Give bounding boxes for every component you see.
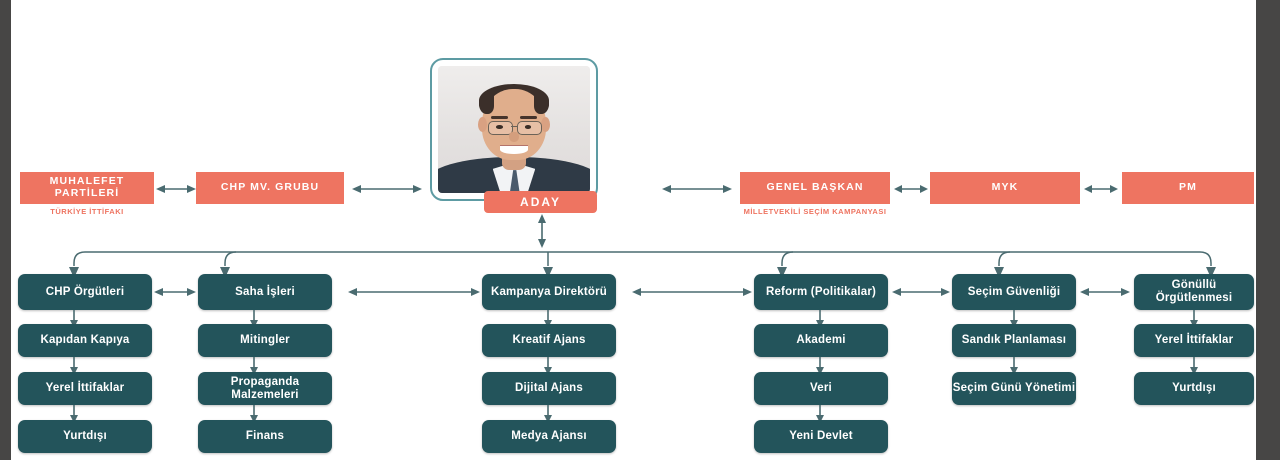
node-label: Saha İşleri	[235, 286, 295, 299]
arrow-genelbaskan-to-myk	[894, 180, 928, 198]
node-label: Medya Ajansı	[511, 430, 586, 443]
node-yurtdisi-col1[interactable]: Yurtdışı	[18, 420, 152, 453]
node-label: PM	[1179, 182, 1197, 194]
node-label: Yerel İttifaklar	[1155, 334, 1234, 347]
node-label: Yeni Devlet	[789, 430, 853, 443]
column-head-gonullu-orgutlenmesi[interactable]: Gönüllü Örgütlenmesi	[1134, 274, 1254, 310]
node-kapidan-kapiya[interactable]: Kapıdan Kapıya	[18, 324, 152, 357]
node-label: Veri	[810, 382, 832, 395]
node-label: CHP Örgütleri	[46, 286, 124, 299]
arrow-sahaisleri-to-kampanyadirektoru	[348, 283, 480, 301]
node-label: GENEL BAŞKAN	[766, 182, 863, 194]
node-pm[interactable]: PM	[1122, 172, 1254, 204]
arrow-kampanyadirektoru-to-reform	[632, 283, 752, 301]
node-label: MUHALEFET PARTİLERİ	[20, 176, 154, 200]
node-secim-gunu-yonetimi[interactable]: Seçim Günü Yönetimi	[952, 372, 1076, 405]
node-label: Kreatif Ajans	[512, 334, 585, 347]
node-label: Seçim Günü Yönetimi	[953, 382, 1075, 395]
arrow-muhalefet-to-chpmv	[156, 180, 196, 198]
node-myk[interactable]: MYK	[930, 172, 1080, 204]
node-label: Yurtdışı	[63, 430, 107, 443]
org-chart-canvas: MUHALEFET PARTİLERİ TÜRKİYE İTTİFAKI CHP…	[0, 0, 1280, 460]
node-medya-ajansi[interactable]: Medya Ajansı	[482, 420, 616, 453]
node-yeni-devlet[interactable]: Yeni Devlet	[754, 420, 888, 453]
node-yerel-ittifaklar-col1[interactable]: Yerel İttifaklar	[18, 372, 152, 405]
arrow-reform-to-secimguvenligi	[892, 283, 950, 301]
column-head-reform-politikalar[interactable]: Reform (Politikalar)	[754, 274, 888, 310]
node-label: Yerel İttifaklar	[46, 382, 125, 395]
left-edge-band	[0, 0, 11, 460]
node-mitingler[interactable]: Mitingler	[198, 324, 332, 357]
node-chp-mv-grubu[interactable]: CHP MV. GRUBU	[196, 172, 344, 204]
node-label: Gönüllü Örgütlenmesi	[1134, 279, 1254, 305]
column-head-chp-orgutleri[interactable]: CHP Örgütleri	[18, 274, 152, 310]
node-yerel-ittifaklar-col6[interactable]: Yerel İttifaklar	[1134, 324, 1254, 357]
node-label: CHP MV. GRUBU	[221, 182, 319, 194]
node-label: Seçim Güvenliği	[968, 286, 1060, 299]
candidate-portrait	[438, 66, 590, 193]
column-head-kampanya-direktoru[interactable]: Kampanya Direktörü	[482, 274, 616, 310]
node-kreatif-ajans[interactable]: Kreatif Ajans	[482, 324, 616, 357]
sublabel-milletvekili-secim-kampanyasi: MİLLETVEKİLİ SEÇİM KAMPANYASI	[740, 207, 890, 216]
distribution-bus	[0, 236, 1280, 278]
node-yurtdisi-col6[interactable]: Yurtdışı	[1134, 372, 1254, 405]
node-akademi[interactable]: Akademi	[754, 324, 888, 357]
node-muhalefet-partileri[interactable]: MUHALEFET PARTİLERİ	[20, 172, 154, 204]
right-edge-band	[1256, 0, 1280, 460]
arrow-myk-to-pm	[1084, 180, 1118, 198]
node-label: Sandık Planlaması	[962, 334, 1066, 347]
arrow-secimguvenligi-to-gonullu	[1080, 283, 1130, 301]
arrow-chporgutleri-to-sahaisleri	[154, 283, 196, 301]
node-genel-baskan[interactable]: GENEL BAŞKAN	[740, 172, 890, 204]
node-label: Dijital Ajans	[515, 382, 583, 395]
node-finans[interactable]: Finans	[198, 420, 332, 453]
column-head-secim-guvenligi[interactable]: Seçim Güvenliği	[952, 274, 1076, 310]
node-dijital-ajans[interactable]: Dijital Ajans	[482, 372, 616, 405]
node-label: Finans	[246, 430, 284, 443]
node-label: Kampanya Direktörü	[491, 286, 607, 299]
arrow-aday-to-genelbaskan	[662, 180, 732, 198]
node-aday[interactable]: ADAY	[484, 191, 597, 213]
column-head-saha-isleri[interactable]: Saha İşleri	[198, 274, 332, 310]
node-label: Mitingler	[240, 334, 290, 347]
node-label: Yurtdışı	[1172, 382, 1216, 395]
node-label: Propaganda Malzemeleri	[198, 376, 332, 402]
node-label: Reform (Politikalar)	[766, 286, 876, 299]
node-veri[interactable]: Veri	[754, 372, 888, 405]
node-sandik-planlamasi[interactable]: Sandık Planlaması	[952, 324, 1076, 357]
sublabel-turkiye-ittifaki: TÜRKİYE İTTİFAKI	[20, 207, 154, 216]
node-label: Akademi	[796, 334, 845, 347]
node-propaganda-malzemeleri[interactable]: Propaganda Malzemeleri	[198, 372, 332, 405]
candidate-photo-frame	[430, 58, 598, 201]
arrow-chpmv-to-aday	[352, 180, 422, 198]
node-label: ADAY	[520, 195, 561, 209]
node-label: MYK	[992, 182, 1019, 194]
node-label: Kapıdan Kapıya	[40, 334, 129, 347]
